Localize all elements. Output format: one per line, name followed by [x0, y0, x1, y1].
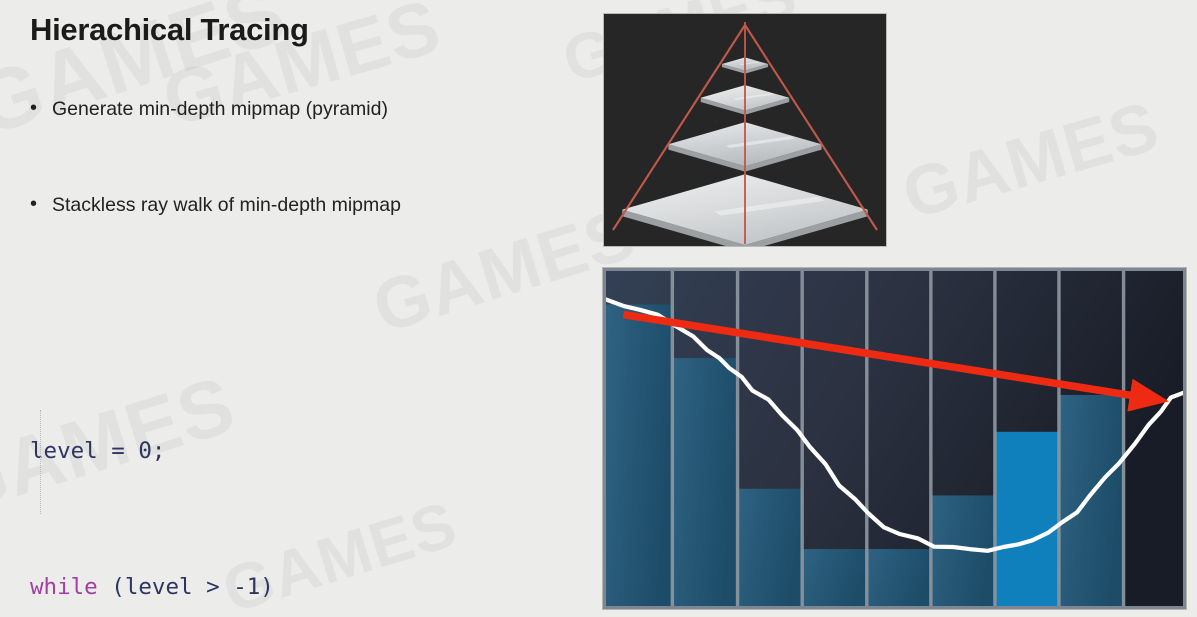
code-token: -1) [233, 574, 274, 600]
watermark: GAMES [894, 85, 1168, 234]
page-title: Hierachical Tracing [30, 12, 309, 48]
cell-fill [802, 549, 867, 606]
cell-fill [867, 549, 931, 606]
code-token: level [125, 574, 193, 600]
code-token: ( [98, 574, 125, 600]
bullet-marker-icon: • [30, 194, 52, 214]
heightfield-ray-figure [603, 268, 1186, 609]
cell-fill-highlight [995, 432, 1059, 606]
slide-canvas: GAMES GAMES GAMES GAMES GAMES GAMES GAME… [0, 0, 1197, 617]
cell-fill [1059, 395, 1124, 606]
bullet-item: • Stackless ray walk of min-depth mipmap [30, 194, 401, 216]
code-token: = [98, 438, 139, 464]
mipmap-pyramid-svg [604, 14, 886, 246]
pyramid-speck [714, 119, 717, 122]
cell-fill [606, 305, 672, 607]
bullet-text: Stackless ray walk of min-depth mipmap [52, 194, 401, 216]
mipmap-pyramid-figure [604, 14, 886, 246]
code-token: while [30, 574, 98, 600]
bullet-marker-icon: • [30, 98, 52, 118]
code-block: level = 0; while (level > -1) { stepCurr… [30, 298, 450, 617]
cell-fill [672, 358, 737, 606]
heightfield-svg [603, 268, 1186, 609]
cell-fill [738, 489, 803, 606]
indent-guide [40, 410, 42, 514]
code-token: > [193, 574, 234, 600]
bullet-text: Generate min-depth mipmap (pyramid) [52, 98, 388, 120]
code-token: 0; [138, 438, 165, 464]
code-line: while (level > -1) [30, 570, 450, 604]
bullet-item: • Generate min-depth mipmap (pyramid) [30, 98, 388, 120]
code-line: level = 0; [30, 434, 450, 468]
